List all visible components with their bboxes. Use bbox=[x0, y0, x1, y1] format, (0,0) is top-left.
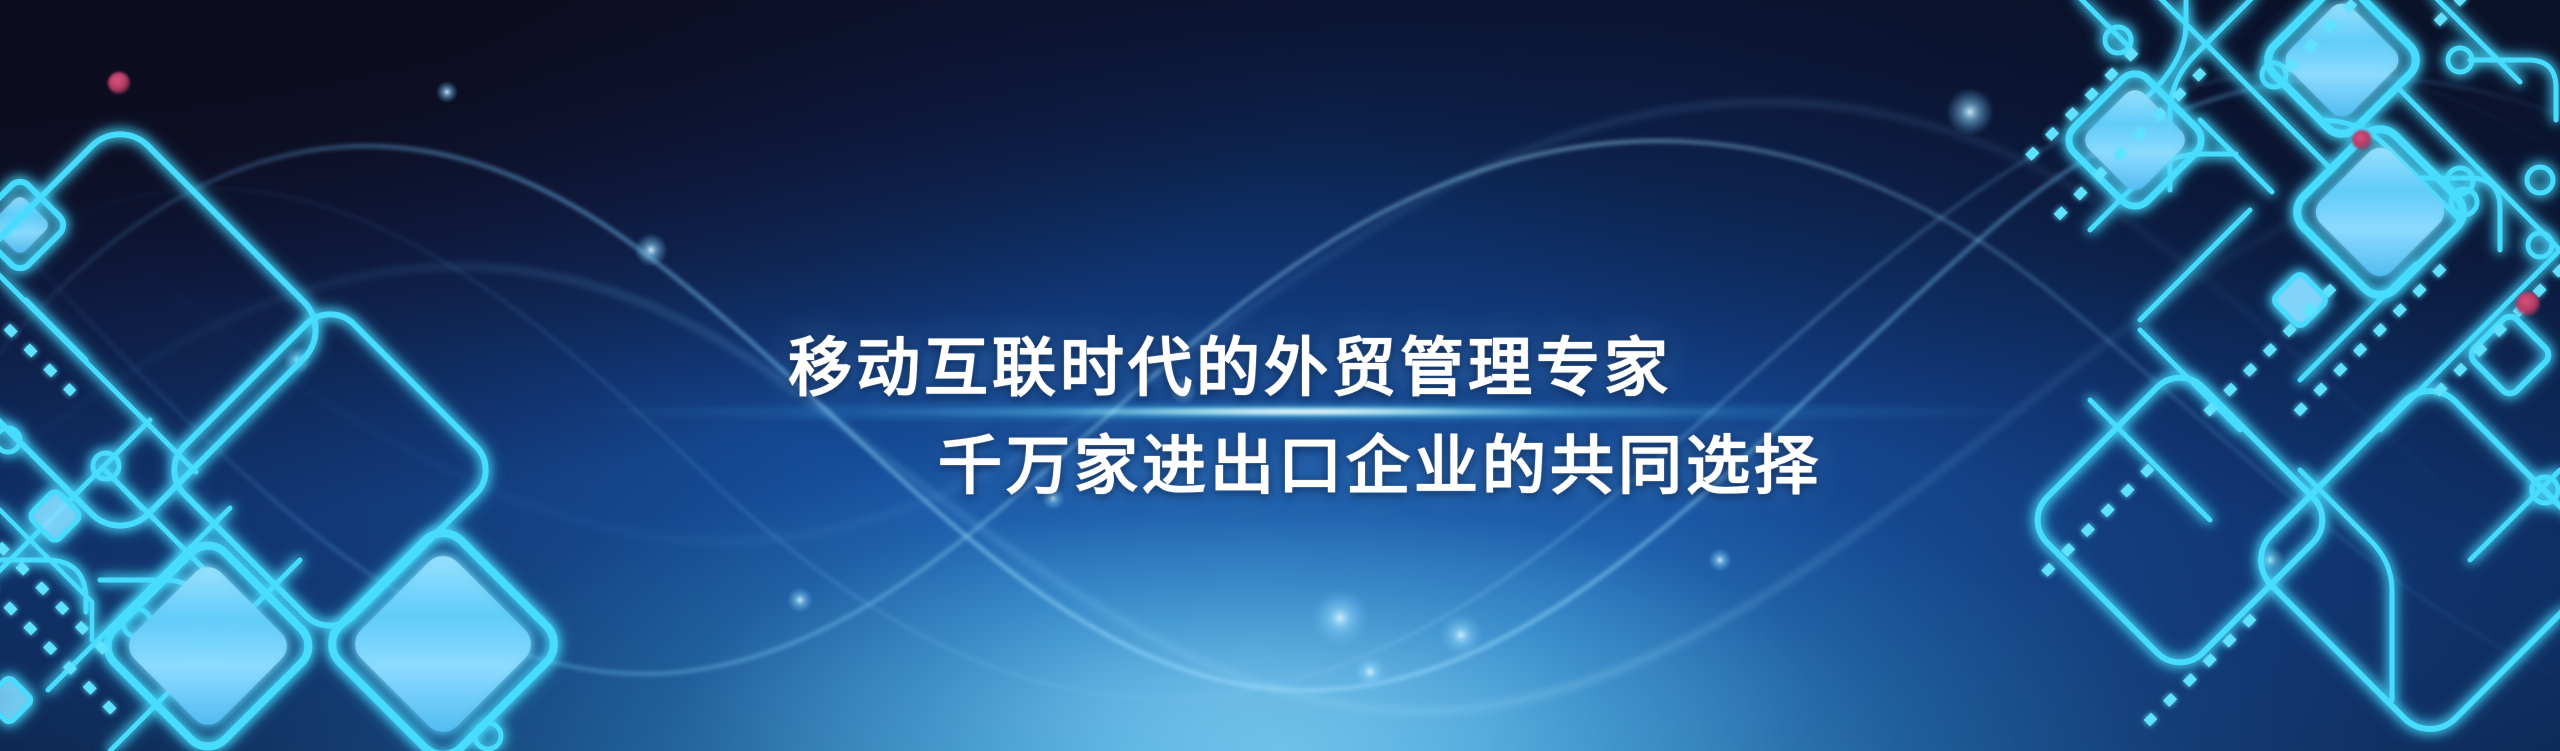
headline-line-1: 移动互联时代的外贸管理专家 bbox=[788, 336, 1672, 400]
hero-banner: 移动互联时代的外贸管理专家 千万家进出口企业的共同选择 bbox=[0, 0, 2560, 751]
headline-line-2: 千万家进出口企业的共同选择 bbox=[938, 434, 1822, 498]
headline-block: 移动互联时代的外贸管理专家 千万家进出口企业的共同选择 bbox=[0, 0, 2560, 751]
